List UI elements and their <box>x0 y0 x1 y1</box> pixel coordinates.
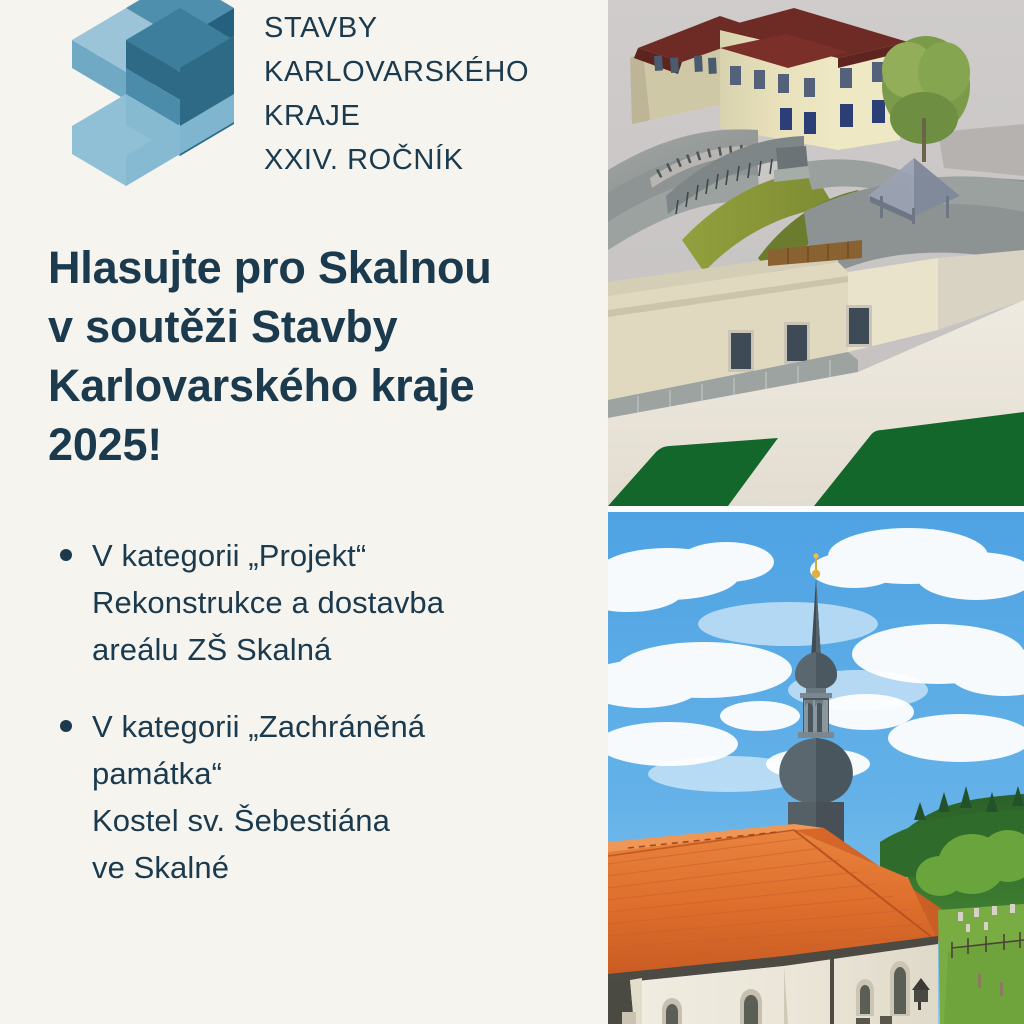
stavby-karlovarskeho-kraje-logo-icon <box>66 0 234 198</box>
headline-line-1: Hlasujte pro Skalnou <box>48 238 593 297</box>
brand-line-4: XXIV. ROČNÍK <box>264 138 604 182</box>
church-st-sebastian-image <box>608 512 1024 1024</box>
brand-line-2: KARLOVARSKÉHO <box>264 50 604 94</box>
brand-title: STAVBY KARLOVARSKÉHO KRAJE XXIV. ROČNÍK <box>264 6 604 182</box>
left-content-panel: STAVBY KARLOVARSKÉHO KRAJE XXIV. ROČNÍK … <box>0 0 608 1024</box>
list-item-line: V kategorii „Zachráněná <box>92 703 593 750</box>
brand-header: STAVBY KARLOVARSKÉHO KRAJE XXIV. ROČNÍK <box>0 0 608 200</box>
list-item-line: ve Skalné <box>92 844 593 891</box>
bullet-dot-icon <box>60 549 72 561</box>
list-item-line: Kostel sv. Šebestiána <box>92 797 593 844</box>
list-item-text: V kategorii „Projekt“ Rekonstrukce a dos… <box>92 532 593 673</box>
image-column <box>608 0 1024 1024</box>
list-item-line: areálu ZŠ Skalná <box>92 626 593 673</box>
school-renovation-render-image <box>608 0 1024 506</box>
brand-line-3: KRAJE <box>264 94 604 138</box>
list-item-line: Rekonstrukce a dostavba <box>92 579 593 626</box>
headline-line-4: 2025! <box>48 415 593 474</box>
page-title: Hlasujte pro Skalnou v soutěži Stavby Ka… <box>48 238 593 474</box>
headline-line-3: Karlovarského kraje <box>48 356 593 415</box>
category-list: V kategorii „Projekt“ Rekonstrukce a dos… <box>48 532 593 921</box>
list-item: V kategorii „Projekt“ Rekonstrukce a dos… <box>48 532 593 673</box>
headline-line-2: v soutěži Stavby <box>48 297 593 356</box>
poster-root: STAVBY KARLOVARSKÉHO KRAJE XXIV. ROČNÍK … <box>0 0 1024 1024</box>
list-item: V kategorii „Zachráněná památka“ Kostel … <box>48 703 593 891</box>
list-item-line: V kategorii „Projekt“ <box>92 532 593 579</box>
list-item-line: památka“ <box>92 750 593 797</box>
bullet-dot-icon <box>60 720 72 732</box>
brand-line-1: STAVBY <box>264 6 604 50</box>
list-item-text: V kategorii „Zachráněná památka“ Kostel … <box>92 703 593 891</box>
